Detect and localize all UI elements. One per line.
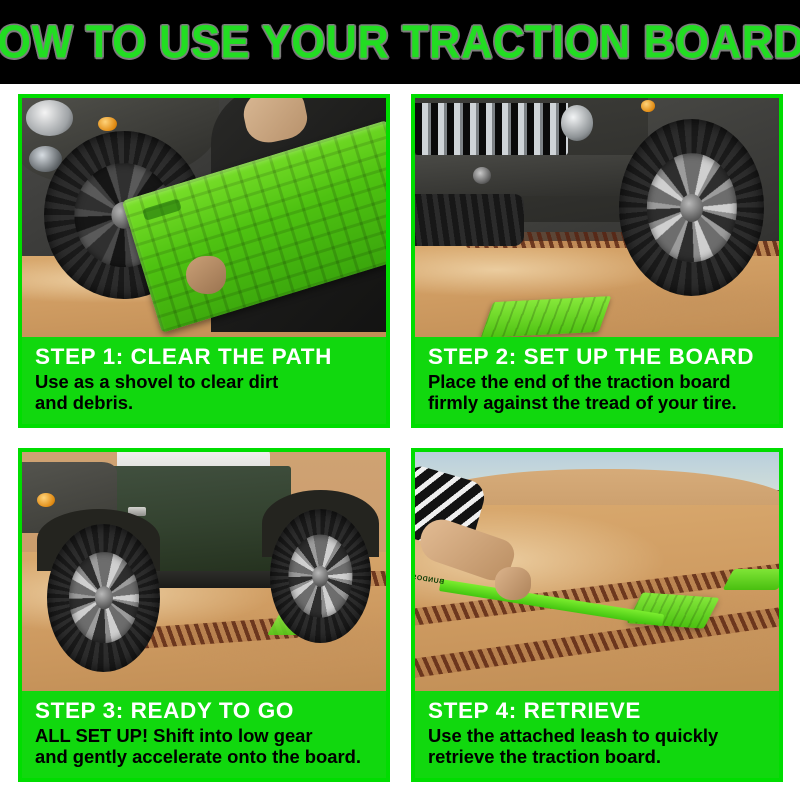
step-1-photo bbox=[22, 98, 386, 337]
step-3-title: STEP 3: READY TO GO bbox=[35, 698, 373, 723]
person-hand-left bbox=[186, 256, 226, 294]
page-title: HOW TO USE YOUR TRACTION BOARDS bbox=[0, 16, 800, 69]
wheel-rim bbox=[69, 552, 139, 644]
step-3-caption: STEP 3: READY TO GO ALL SET UP! Shift in… bbox=[22, 691, 386, 778]
wheel-rim bbox=[646, 153, 736, 263]
wheel-hub bbox=[680, 194, 703, 222]
jeep-tire-front bbox=[47, 524, 160, 672]
steps-grid: STEP 1: CLEAR THE PATH Use as a shovel t… bbox=[18, 94, 783, 782]
step-4-body: Use the attached leash to quickly retrie… bbox=[428, 725, 766, 768]
jeep-tire-rear bbox=[270, 509, 372, 643]
traction-board bbox=[480, 296, 611, 337]
step-panel-3: STEP 3: READY TO GO ALL SET UP! Shift in… bbox=[18, 448, 390, 782]
headlight-icon bbox=[26, 100, 73, 136]
infographic-root: HOW TO USE YOUR TRACTION BOARDS bbox=[0, 0, 800, 800]
step-3-photo bbox=[22, 452, 386, 691]
step-4-caption: STEP 4: RETRIEVE Use the attached leash … bbox=[415, 691, 779, 778]
step-1-title: STEP 1: CLEAR THE PATH bbox=[35, 344, 373, 369]
step-4-title: STEP 4: RETRIEVE bbox=[428, 698, 766, 723]
person-hand bbox=[495, 567, 531, 600]
step-2-title: STEP 2: SET UP THE BOARD bbox=[428, 344, 766, 369]
step-panel-1: STEP 1: CLEAR THE PATH Use as a shovel t… bbox=[18, 94, 390, 428]
headlight-icon bbox=[561, 105, 594, 141]
step-1-caption: STEP 1: CLEAR THE PATH Use as a shovel t… bbox=[22, 337, 386, 424]
step-3-body: ALL SET UP! Shift into low gear and gent… bbox=[35, 725, 373, 768]
jeep-tire bbox=[619, 119, 765, 296]
jeep-grille bbox=[415, 103, 568, 156]
step-panel-2: STEP 2: SET UP THE BOARD Place the end o… bbox=[411, 94, 783, 428]
jeep-bumper bbox=[415, 155, 648, 196]
step-2-body: Place the end of the traction board firm… bbox=[428, 371, 766, 414]
wheel-hub bbox=[312, 565, 328, 587]
step-1-body: Use as a shovel to clear dirt and debris… bbox=[35, 371, 373, 414]
step-2-caption: STEP 2: SET UP THE BOARD Place the end o… bbox=[415, 337, 779, 424]
wheel-rim bbox=[289, 535, 352, 618]
step-2-photo bbox=[415, 98, 779, 337]
step-panel-4: BUNDOSA STEP 4: RETRIEVE Use the attache… bbox=[411, 448, 783, 782]
step-4-photo: BUNDOSA bbox=[415, 452, 779, 691]
side-marker-light-icon bbox=[98, 117, 116, 131]
wheel-hub bbox=[95, 586, 113, 610]
header-bar: HOW TO USE YOUR TRACTION BOARDS bbox=[0, 0, 800, 84]
side-marker-light-icon bbox=[37, 493, 55, 507]
opposite-tire bbox=[415, 194, 524, 247]
traction-board-secondary bbox=[722, 569, 779, 590]
